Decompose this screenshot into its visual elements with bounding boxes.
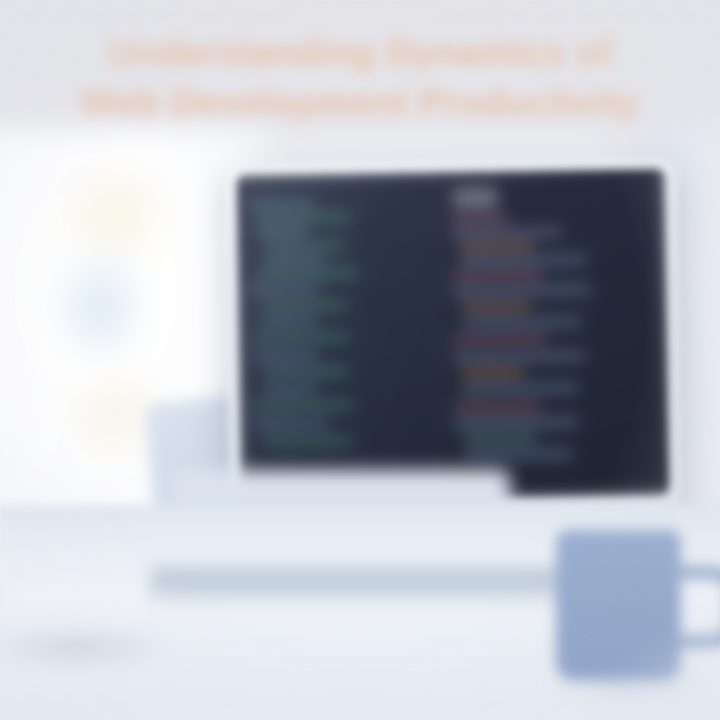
back-panel-highlight-cool [55, 245, 145, 365]
hero-image-scene: Understanding Dynamics of Web Developmen… [0, 0, 720, 720]
hero-heading: Understanding Dynamics of Web Developmen… [0, 28, 720, 128]
screen-defocus-layer [237, 169, 670, 501]
tablet-device[interactable] [226, 159, 681, 515]
patterned-mug[interactable] [0, 516, 163, 648]
keyboard[interactable] [150, 566, 570, 608]
blue-mug[interactable] [556, 530, 681, 680]
hero-heading-line-2: Web Development Productivity [0, 78, 720, 128]
hero-heading-line-1: Understanding Dynamics of [0, 28, 720, 78]
tablet-screen[interactable] [237, 169, 670, 501]
